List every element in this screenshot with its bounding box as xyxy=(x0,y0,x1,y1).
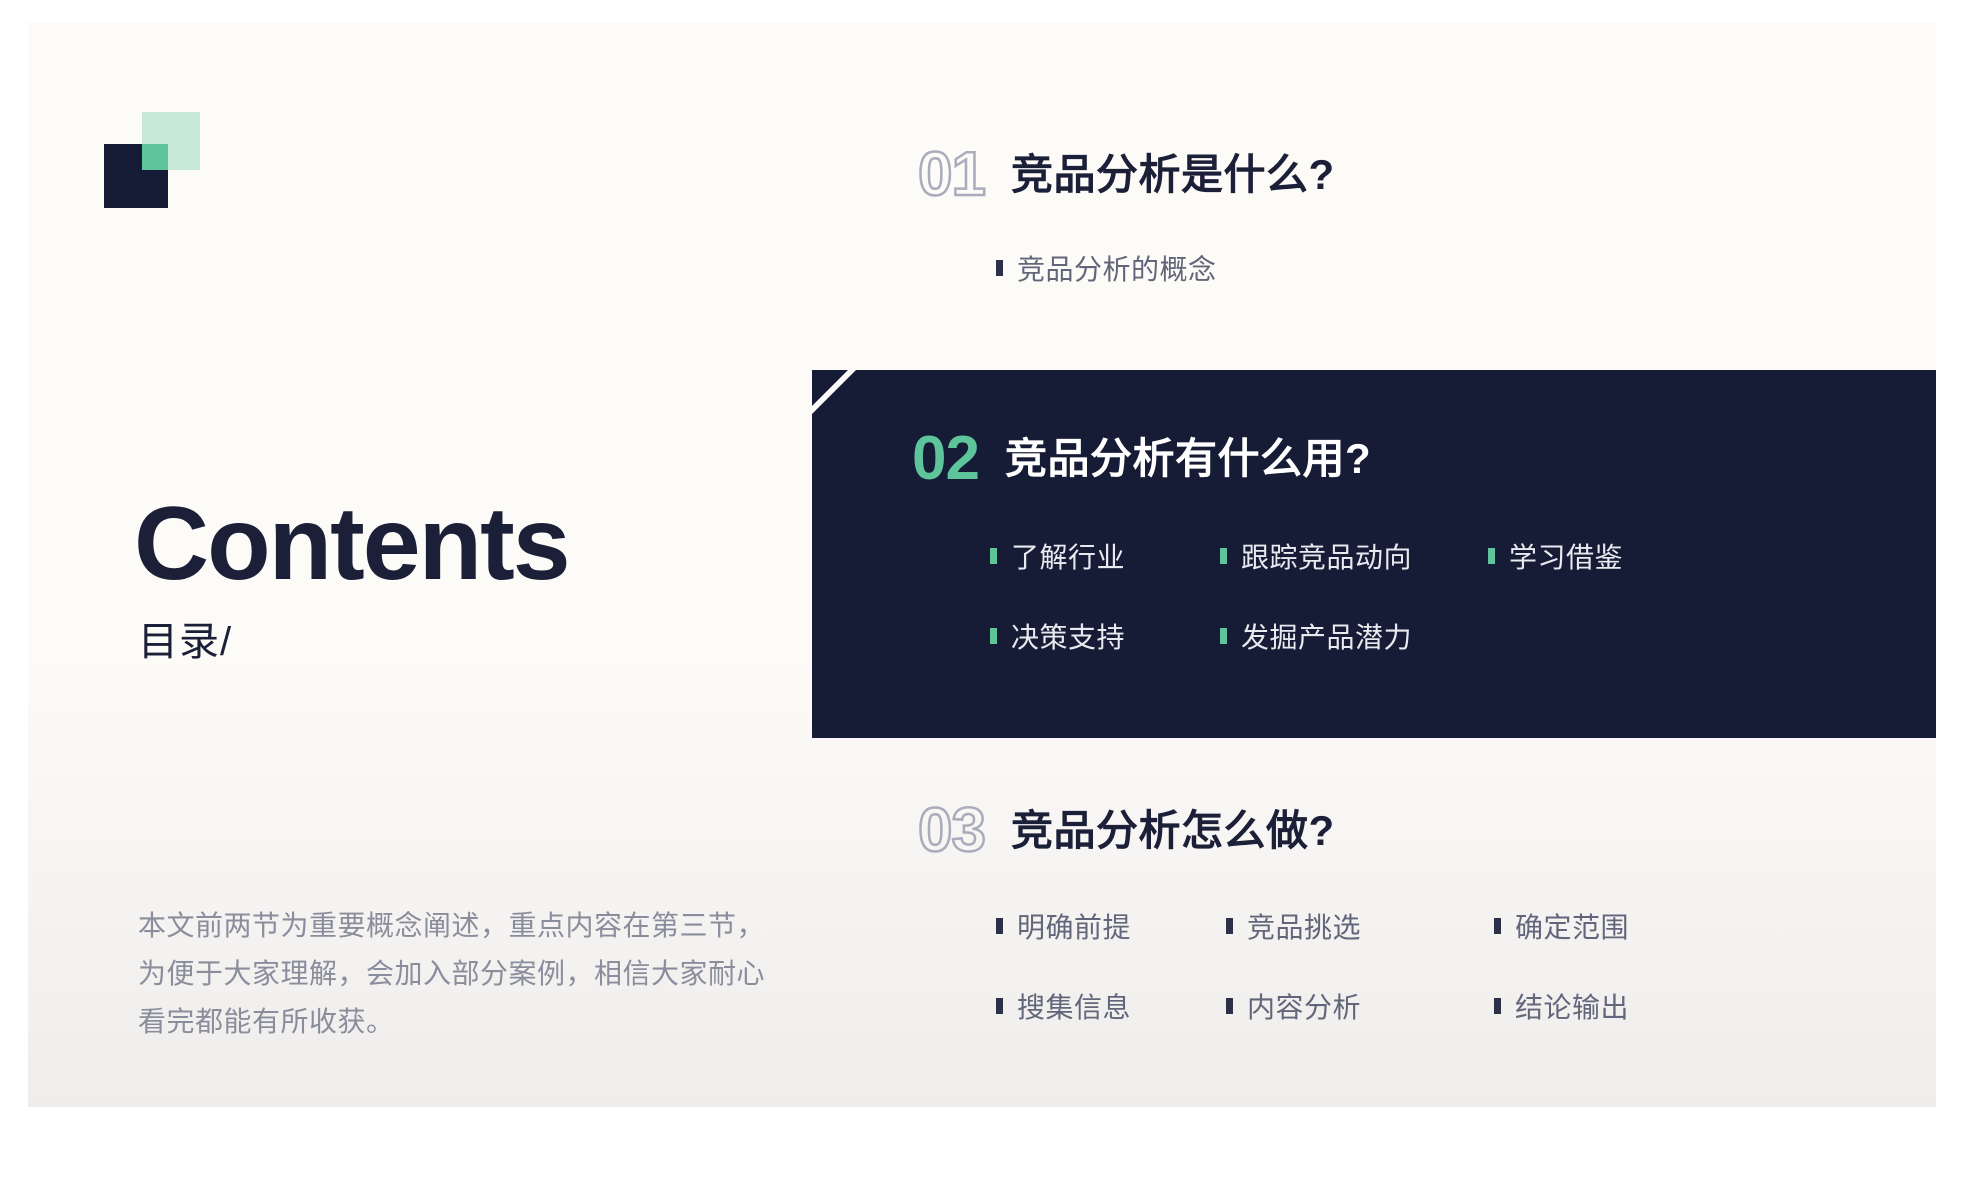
page-title: Contents xyxy=(134,492,569,596)
section-03[interactable]: 03 竞品分析怎么做? 明确前提 竞品挑选 确定范围 xyxy=(918,800,1936,1026)
section-01-header: 01 竞品分析是什么? xyxy=(918,144,1335,206)
list-item[interactable]: 决策支持 xyxy=(990,616,1220,656)
section-02-card[interactable]: 02 竞品分析有什么用? 了解行业 跟踪竞品动向 学习借鉴 xyxy=(812,370,1936,738)
section-02-header: 02 竞品分析有什么用? xyxy=(912,428,1936,490)
description-line: 看完都能有所收获。 xyxy=(138,998,818,1046)
slide-canvas: Contents 目录/ 本文前两节为重要概念阐述，重点内容在第三节， 为便于大… xyxy=(28,22,1936,1107)
list-item-label: 跟踪竞品动向 xyxy=(1241,536,1412,576)
page-subtitle: 目录/ xyxy=(138,622,232,662)
list-item[interactable]: 竞品分析的概念 xyxy=(996,248,1217,288)
bullet-square-icon xyxy=(1494,918,1501,934)
section-01-bullets: 竞品分析的概念 xyxy=(996,248,1335,288)
bullet-square-icon xyxy=(990,548,997,564)
bullet-square-icon xyxy=(1220,628,1227,644)
bullet-square-icon xyxy=(990,628,997,644)
section-02-bullets: 了解行业 跟踪竞品动向 学习借鉴 决策支持 xyxy=(990,536,1936,656)
list-item-label: 搜集信息 xyxy=(1017,986,1131,1026)
list-item-label: 结论输出 xyxy=(1515,986,1629,1026)
section-01-title: 竞品分析是什么? xyxy=(1011,154,1335,196)
list-item[interactable]: 竞品挑选 xyxy=(1226,906,1494,946)
section-03-bullets: 明确前提 竞品挑选 确定范围 搜集信息 内容分析 xyxy=(996,906,1936,1026)
list-item-label: 发掘产品潜力 xyxy=(1241,616,1412,656)
section-02: 02 竞品分析有什么用? 了解行业 跟踪竞品动向 学习借鉴 xyxy=(912,428,1936,656)
description-text: 本文前两节为重要概念阐述，重点内容在第三节， 为便于大家理解，会加入部分案例，相… xyxy=(138,902,818,1046)
bullet-row: 明确前提 竞品挑选 确定范围 xyxy=(996,906,1629,946)
bullet-square-icon xyxy=(1220,548,1227,564)
bullet-square-icon xyxy=(1488,548,1495,564)
list-item-label: 明确前提 xyxy=(1017,906,1131,946)
description-line: 本文前两节为重要概念阐述，重点内容在第三节， xyxy=(138,902,818,950)
left-column: Contents 目录/ 本文前两节为重要概念阐述，重点内容在第三节， 为便于大… xyxy=(104,22,804,1107)
section-02-number: 02 xyxy=(912,428,979,490)
bullet-square-icon xyxy=(1494,998,1501,1014)
section-01-number: 01 xyxy=(918,144,985,206)
section-03-header: 03 竞品分析怎么做? xyxy=(918,800,1936,862)
list-item-label: 确定范围 xyxy=(1515,906,1629,946)
list-item-label: 竞品挑选 xyxy=(1247,906,1361,946)
list-item[interactable]: 搜集信息 xyxy=(996,986,1226,1026)
description-line: 为便于大家理解，会加入部分案例，相信大家耐心 xyxy=(138,950,818,998)
bullet-square-icon xyxy=(996,998,1003,1014)
bullet-row: 搜集信息 内容分析 结论输出 xyxy=(996,986,1629,1026)
list-item[interactable]: 明确前提 xyxy=(996,906,1226,946)
section-01[interactable]: 01 竞品分析是什么? 竞品分析的概念 xyxy=(918,144,1335,288)
list-item[interactable]: 了解行业 xyxy=(990,536,1220,576)
list-item-label: 了解行业 xyxy=(1011,536,1125,576)
bullet-row: 竞品分析的概念 xyxy=(996,248,1217,288)
list-item[interactable]: 学习借鉴 xyxy=(1488,536,1623,576)
section-03-number: 03 xyxy=(918,800,985,862)
bullet-row: 了解行业 跟踪竞品动向 学习借鉴 xyxy=(990,536,1623,576)
list-item-label: 决策支持 xyxy=(1011,616,1125,656)
list-item[interactable]: 结论输出 xyxy=(1494,986,1629,1026)
section-03-title: 竞品分析怎么做? xyxy=(1011,810,1335,852)
list-item[interactable]: 确定范围 xyxy=(1494,906,1629,946)
bullet-square-icon xyxy=(996,918,1003,934)
list-item-label: 竞品分析的概念 xyxy=(1017,248,1217,288)
list-item[interactable]: 跟踪竞品动向 xyxy=(1220,536,1488,576)
list-item-label: 学习借鉴 xyxy=(1509,536,1623,576)
list-item-label: 内容分析 xyxy=(1247,986,1361,1026)
bullet-square-icon xyxy=(996,260,1003,276)
list-item[interactable]: 内容分析 xyxy=(1226,986,1494,1026)
bullet-square-icon xyxy=(1226,918,1233,934)
list-item[interactable]: 发掘产品潜力 xyxy=(1220,616,1488,656)
bullet-row: 决策支持 发掘产品潜力 xyxy=(990,616,1488,656)
bullet-square-icon xyxy=(1226,998,1233,1014)
section-02-title: 竞品分析有什么用? xyxy=(1005,438,1371,480)
